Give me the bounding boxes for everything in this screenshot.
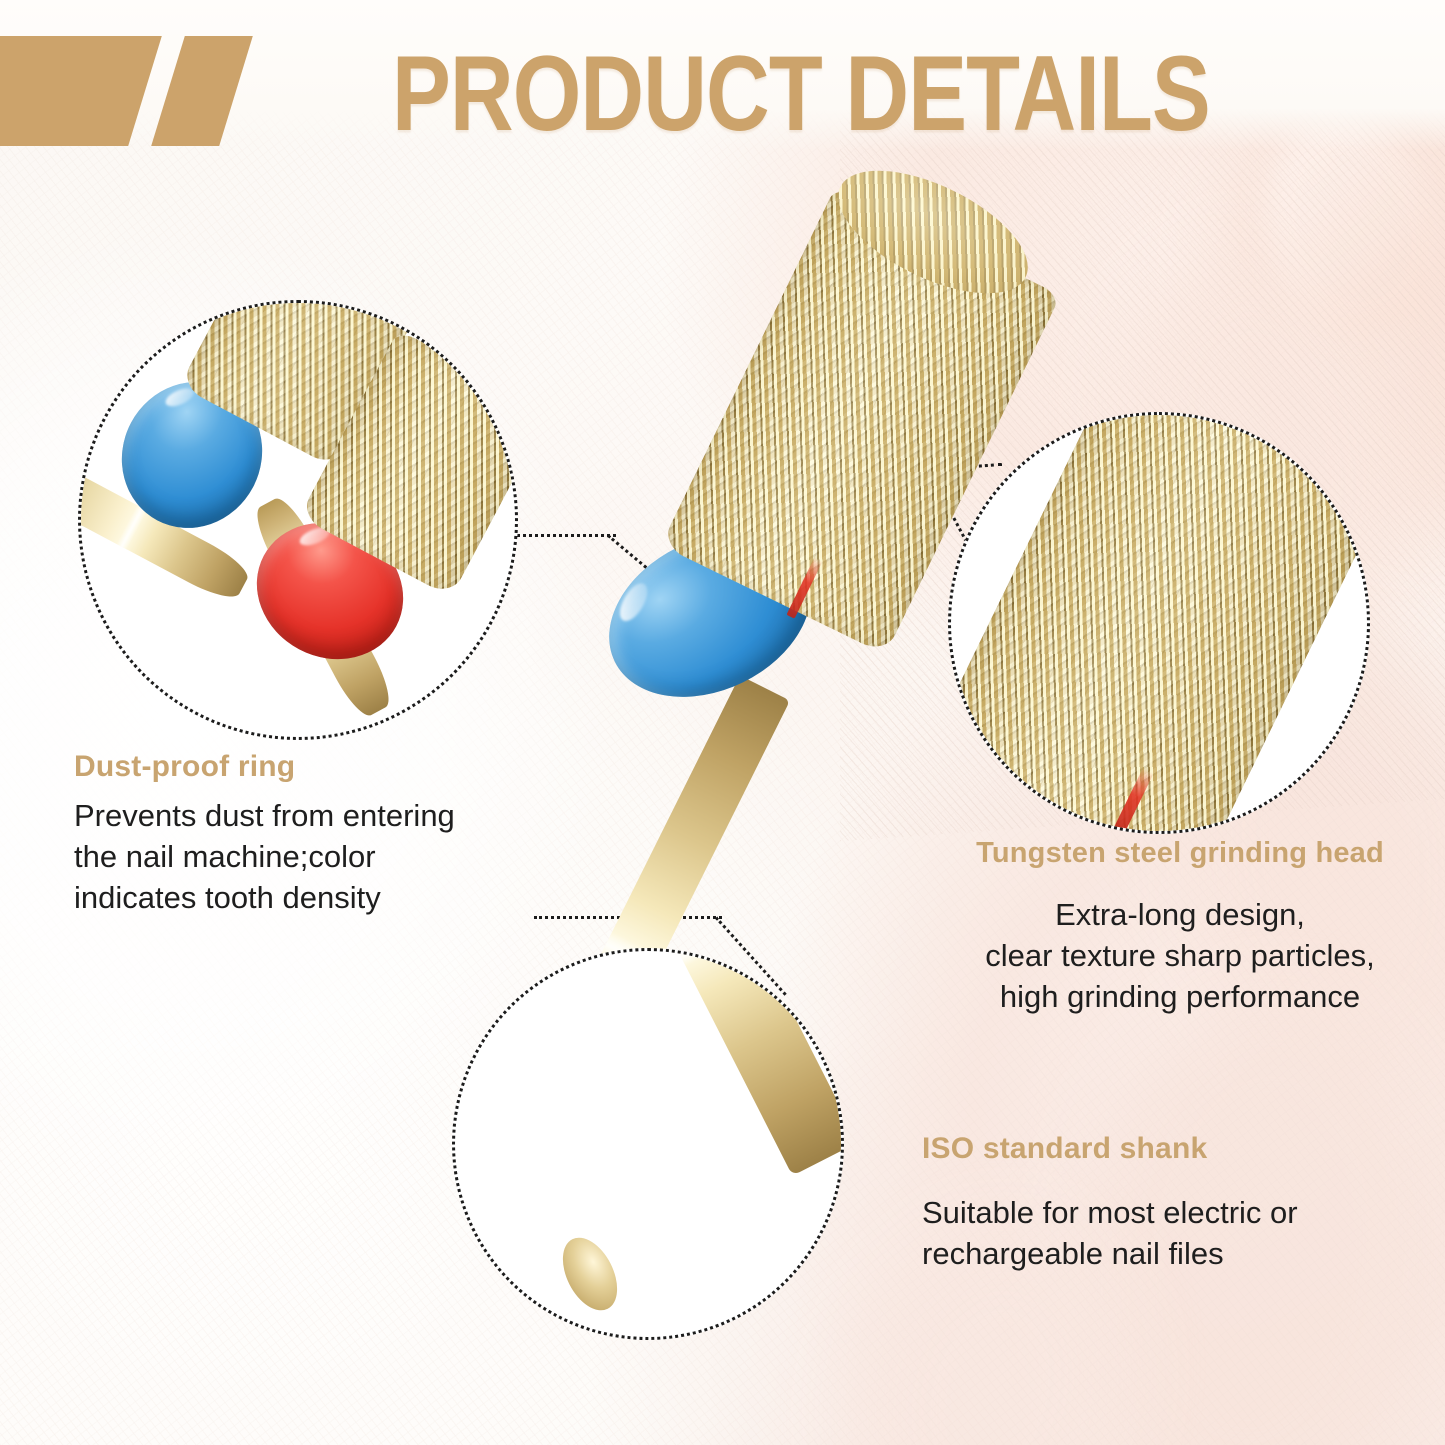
callout-circle-grinding-head	[948, 412, 1370, 834]
callout-heading: Dust-proof ring	[74, 748, 544, 786]
callout-body-line: Suitable for most electric or	[922, 1192, 1392, 1233]
callout-body-line: the nail machine;color	[74, 836, 544, 877]
callout-body-line: indicates tooth density	[74, 877, 544, 918]
callout-body-line: clear texture sharp particles,	[930, 935, 1430, 976]
callout-circle-dust-proof-ring	[78, 300, 518, 740]
callout-text-grinding-head: Tungsten steel grinding head Extra-long …	[930, 834, 1430, 1017]
callout-heading: Tungsten steel grinding head	[930, 834, 1430, 872]
callout-text-iso-shank: ISO standard shank Suitable for most ele…	[922, 1130, 1392, 1274]
page-title: PRODUCT DETAILS	[392, 32, 1210, 154]
callout-body-line: Prevents dust from entering	[74, 795, 544, 836]
callout-body-line: Extra-long design,	[930, 894, 1430, 935]
callout-body: Suitable for most electric or rechargeab…	[922, 1192, 1392, 1274]
callout-body: Extra-long design, clear texture sharp p…	[930, 894, 1430, 1017]
callout-circle-shank	[452, 948, 844, 1340]
callout-heading: ISO standard shank	[922, 1130, 1392, 1168]
gold-parallelogram-bar-icon	[151, 36, 253, 146]
callout-body-line: high grinding performance	[930, 976, 1430, 1017]
header-band: PRODUCT DETAILS	[0, 0, 1445, 150]
gold-parallelogram-large-icon	[0, 36, 162, 146]
product-details-infographic: PRODUCT DETAILS	[0, 0, 1445, 1445]
callout-body: Prevents dust from entering the nail mac…	[74, 795, 544, 918]
callout-body-line: rechargeable nail files	[922, 1233, 1392, 1274]
zoom-grinding-head-texture	[948, 412, 1370, 834]
zoom-shank-rounded-end	[552, 1229, 628, 1319]
callout-text-dust-proof-ring: Dust-proof ring Prevents dust from enter…	[74, 748, 544, 918]
